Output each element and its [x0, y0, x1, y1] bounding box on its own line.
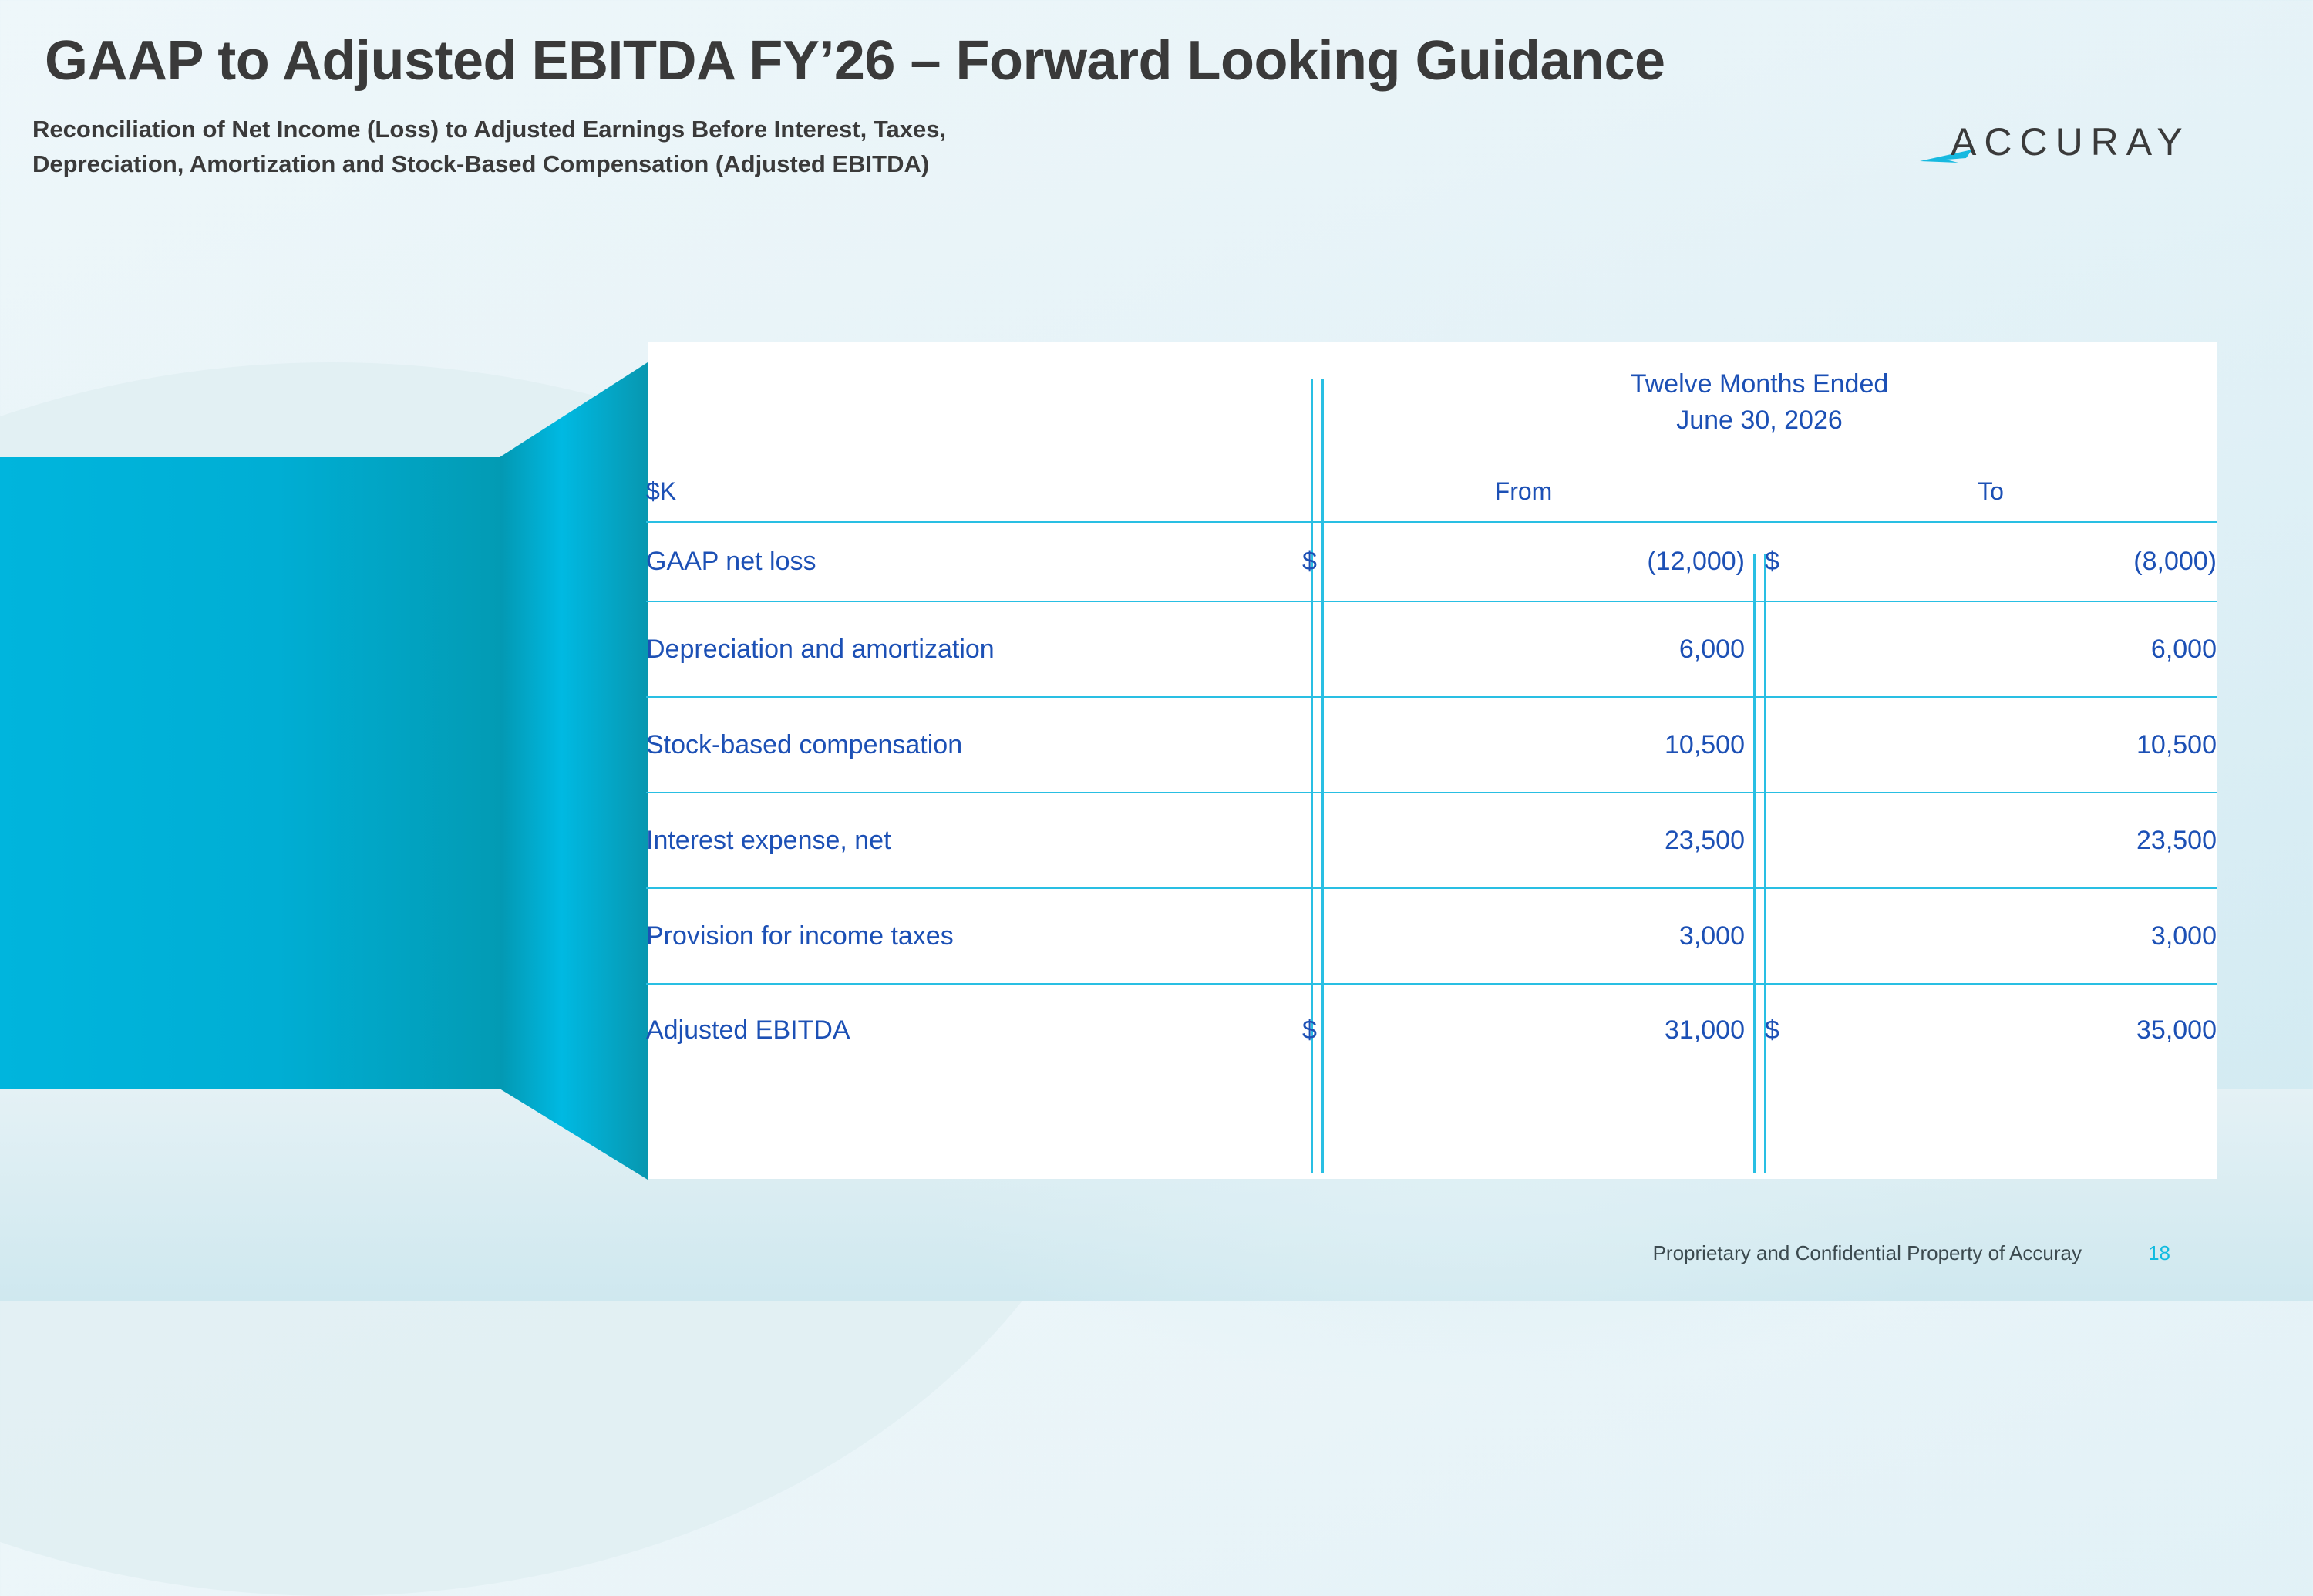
- column-header-to: To: [1765, 462, 2217, 522]
- table-row: Stock-based compensation10,50010,500: [646, 697, 2217, 793]
- to-currency-symbol: [1765, 697, 1831, 793]
- period-header-spacer: [646, 342, 1282, 462]
- row-label: Provision for income taxes: [646, 888, 1282, 984]
- row-gap: [1282, 984, 1302, 1076]
- cyan-wedge-shape: [493, 355, 655, 1191]
- confidentiality-note: Proprietary and Confidential Property of…: [1653, 1241, 2082, 1265]
- table-row: Adjusted EBITDA$31,000$35,000: [646, 984, 2217, 1076]
- row-gap: [1282, 888, 1302, 984]
- period-header-gap: [1282, 342, 1302, 462]
- from-value: (12,000): [1369, 522, 1745, 601]
- table-row: Interest expense, net23,50023,500: [646, 793, 2217, 888]
- row-label: GAAP net loss: [646, 522, 1282, 601]
- page-title: GAAP to Adjusted EBITDA FY’26 – Forward …: [45, 29, 1665, 93]
- column-header-row: $K From To: [646, 462, 2217, 522]
- to-value: 6,000: [1831, 601, 2217, 697]
- from-value: 31,000: [1369, 984, 1745, 1076]
- table-row: Depreciation and amortization6,0006,000: [646, 601, 2217, 697]
- accuray-logo: ACCURAY: [1920, 112, 2220, 172]
- table-row: GAAP net loss$(12,000)$(8,000): [646, 522, 2217, 601]
- from-value: 23,500: [1369, 793, 1745, 888]
- from-currency-symbol: $: [1302, 984, 1369, 1076]
- to-value: 23,500: [1831, 793, 2217, 888]
- table-row: Provision for income taxes3,0003,000: [646, 888, 2217, 984]
- row-label: Interest expense, net: [646, 793, 1282, 888]
- slide-footer: Proprietary and Confidential Property of…: [0, 1241, 2313, 1280]
- row-gap: [1282, 601, 1302, 697]
- column-header-from: From: [1302, 462, 1745, 522]
- row-gap: [1745, 793, 1765, 888]
- from-currency-symbol: [1302, 601, 1369, 697]
- to-currency-symbol: [1765, 601, 1831, 697]
- row-label: Adjusted EBITDA: [646, 984, 1282, 1076]
- header-gap-1: [1282, 462, 1302, 522]
- logo-wordmark: ACCURAY: [1951, 120, 2190, 164]
- row-label: Depreciation and amortization: [646, 601, 1282, 697]
- page-subtitle: Reconciliation of Net Income (Loss) to A…: [32, 112, 946, 181]
- to-currency-symbol: [1765, 888, 1831, 984]
- to-value: (8,000): [1831, 522, 2217, 601]
- row-gap: [1745, 697, 1765, 793]
- period-header-row: Twelve Months Ended June 30, 2026: [646, 342, 2217, 462]
- row-gap: [1745, 522, 1765, 601]
- to-currency-symbol: $: [1765, 984, 1831, 1076]
- from-currency-symbol: [1302, 793, 1369, 888]
- to-value: 10,500: [1831, 697, 2217, 793]
- to-currency-symbol: $: [1765, 522, 1831, 601]
- from-currency-symbol: [1302, 888, 1369, 984]
- header-gap-2: [1745, 462, 1765, 522]
- from-value: 10,500: [1369, 697, 1745, 793]
- to-value: 35,000: [1831, 984, 2217, 1076]
- table-body: GAAP net loss$(12,000)$(8,000)Depreciati…: [646, 522, 2217, 1076]
- to-value: 3,000: [1831, 888, 2217, 984]
- row-gap: [1282, 697, 1302, 793]
- row-gap: [1745, 888, 1765, 984]
- row-label: Stock-based compensation: [646, 697, 1282, 793]
- page-number: 18: [2148, 1241, 2170, 1265]
- row-gap: [1282, 793, 1302, 888]
- row-gap: [1282, 522, 1302, 601]
- cyan-block-shape: [0, 457, 500, 1089]
- row-gap: [1745, 984, 1765, 1076]
- from-value: 6,000: [1369, 601, 1745, 697]
- from-value: 3,000: [1369, 888, 1745, 984]
- table-header: Twelve Months Ended June 30, 2026 $K Fro…: [646, 342, 2217, 522]
- row-gap: [1745, 601, 1765, 697]
- unit-label: $K: [646, 462, 1282, 522]
- from-currency-symbol: [1302, 697, 1369, 793]
- to-currency-symbol: [1765, 793, 1831, 888]
- from-currency-symbol: $: [1302, 522, 1369, 601]
- reconciliation-table: Twelve Months Ended June 30, 2026 $K Fro…: [646, 342, 2217, 1076]
- period-header-label: Twelve Months Ended June 30, 2026: [1302, 342, 2217, 462]
